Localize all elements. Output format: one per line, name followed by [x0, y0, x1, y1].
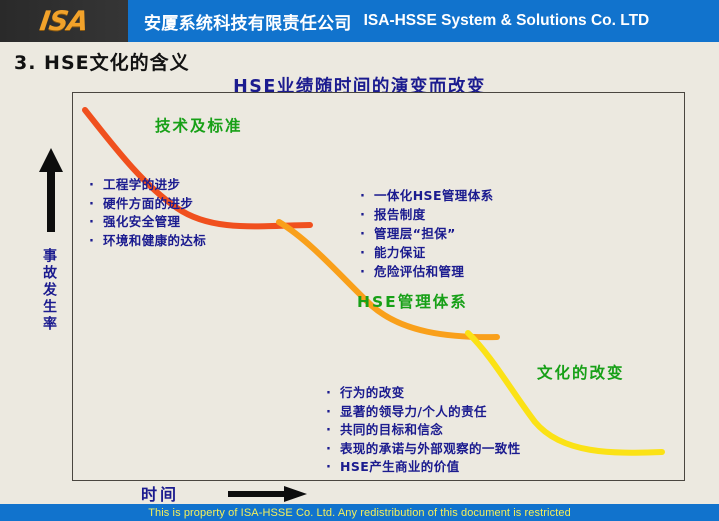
page-title: 3. HSE文化的含义 — [14, 48, 190, 75]
header-bar: ISA 安厦系统科技有限责任公司 ISA-HSSE System & Solut… — [0, 0, 719, 42]
bullet-marker-icon: · — [326, 461, 340, 474]
list-item-label: 显著的领导力/个人的责任 — [340, 403, 487, 422]
slide-canvas: ISA 安厦系统科技有限责任公司 ISA-HSSE System & Solut… — [0, 0, 719, 521]
bullet-marker-icon: · — [360, 247, 374, 260]
bullet-marker-icon: · — [360, 228, 374, 241]
bullet-marker-icon: · — [360, 209, 374, 222]
list-item: · HSE产生商业的价值 — [326, 458, 521, 477]
list-item: · 能力保证 — [360, 243, 494, 262]
list-item: · 共同的目标和信念 — [326, 421, 521, 440]
bullet-marker-icon: · — [326, 387, 340, 400]
list-item-label: 硬件方面的进步 — [103, 195, 193, 214]
curve-label-culture-change: 文化的改变 — [537, 361, 625, 383]
bullet-list-hse-management-system: · 一体化HSE管理体系 · 报告制度 · 管理层“担保” · 能力保证 · 危… — [360, 186, 494, 281]
curve-label-hse-management-system: HSE管理体系 — [357, 290, 468, 312]
bullet-marker-icon: · — [89, 198, 103, 211]
list-item: · 工程学的进步 — [89, 176, 206, 195]
list-item: · 显著的领导力/个人的责任 — [326, 403, 521, 422]
y-axis-label: 事故发生率 — [30, 248, 56, 333]
list-item-label: 管理层“担保” — [374, 224, 456, 243]
list-item: · 危险评估和管理 — [360, 262, 494, 281]
list-item-label: 危险评估和管理 — [374, 262, 464, 281]
list-item: · 环境和健康的达标 — [89, 232, 206, 251]
x-axis-label: 时间 — [141, 481, 179, 505]
list-item-label: 工程学的进步 — [103, 176, 180, 195]
bullet-marker-icon: · — [326, 443, 340, 456]
company-name-en: ISA-HSSE System & Solutions Co. LTD — [364, 12, 650, 30]
list-item-label: 表现的承诺与外部观察的一致性 — [340, 440, 521, 459]
bullet-marker-icon: · — [326, 406, 340, 419]
list-item-label: 报告制度 — [374, 205, 426, 224]
list-item-label: 环境和健康的达标 — [103, 232, 206, 251]
list-item-label: 能力保证 — [374, 243, 426, 262]
company-name-cn: 安厦系统科技有限责任公司 — [144, 9, 352, 34]
curve-label-technology-standards: 技术及标准 — [155, 114, 243, 136]
list-item: · 硬件方面的进步 — [89, 195, 206, 214]
list-item-label: 一体化HSE管理体系 — [374, 186, 494, 205]
bullet-list-culture-change: · 行为的改变 · 显著的领导力/个人的责任 · 共同的目标和信念 · 表现的承… — [326, 384, 521, 477]
bullet-marker-icon: · — [360, 266, 374, 279]
list-item-label: 强化安全管理 — [103, 213, 180, 232]
list-item: · 报告制度 — [360, 205, 494, 224]
logo-text: ISA — [38, 6, 90, 37]
bullet-marker-icon: · — [89, 216, 103, 229]
list-item-label: 共同的目标和信念 — [340, 421, 443, 440]
list-item: · 表现的承诺与外部观察的一致性 — [326, 440, 521, 459]
list-item-label: HSE产生商业的价值 — [340, 458, 460, 477]
bullet-marker-icon: · — [89, 235, 103, 248]
list-item-label: 行为的改变 — [340, 384, 405, 403]
x-axis-arrow-icon — [228, 486, 308, 502]
isa-logo: ISA — [0, 0, 128, 42]
footer-bar: This is property of ISA-HSSE Co. Ltd. An… — [0, 504, 719, 521]
list-item: · 强化安全管理 — [89, 213, 206, 232]
y-axis-arrow-icon — [36, 146, 66, 234]
list-item: · 管理层“担保” — [360, 224, 494, 243]
header-title-bar: 安厦系统科技有限责任公司 ISA-HSSE System & Solutions… — [128, 0, 719, 42]
list-item: · 行为的改变 — [326, 384, 521, 403]
bullet-marker-icon: · — [326, 424, 340, 437]
list-item: · 一体化HSE管理体系 — [360, 186, 494, 205]
footer-copyright-text: This is property of ISA-HSSE Co. Ltd. An… — [148, 507, 571, 519]
bullet-marker-icon: · — [360, 190, 374, 203]
bullet-list-technology-standards: · 工程学的进步 · 硬件方面的进步 · 强化安全管理 · 环境和健康的达标 — [89, 176, 206, 250]
bullet-marker-icon: · — [89, 179, 103, 192]
